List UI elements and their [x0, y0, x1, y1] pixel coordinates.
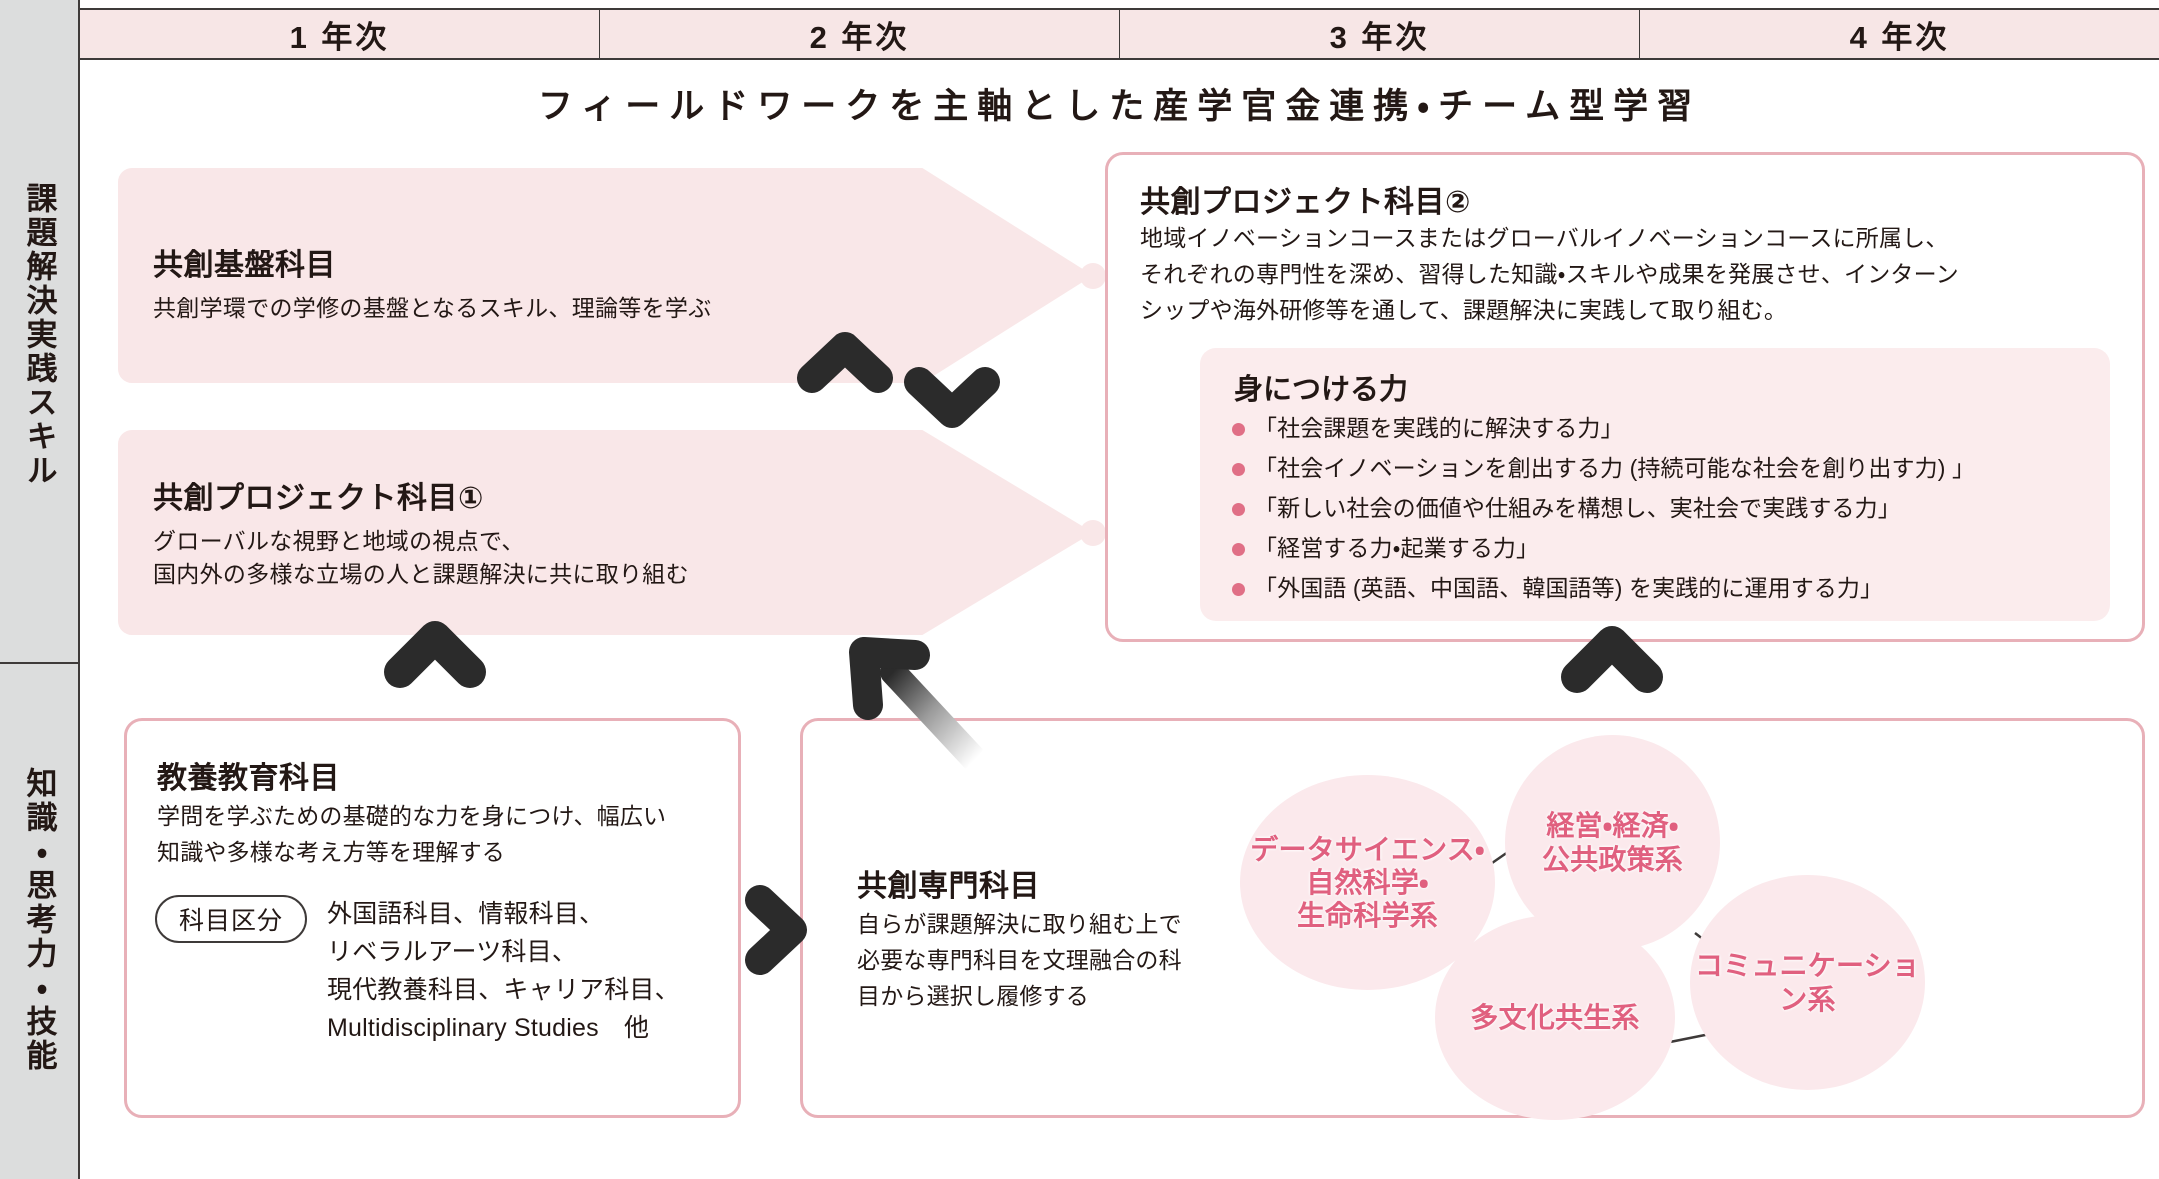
- arrow-diagonal-up-left: [864, 652, 975, 760]
- arrow-down-center: [919, 360, 985, 413]
- curriculum-diagram: 課題解決実践スキル 知識・思考力・技能 1 年次 2 年次 3 年次 4 年次 …: [0, 0, 2159, 1179]
- arrow-up-right: [1577, 642, 1647, 725]
- arrow-right: [715, 900, 792, 960]
- arrow-up-left: [400, 637, 470, 725]
- flow-arrows: [0, 0, 2159, 1179]
- arrow-up-center: [812, 347, 878, 415]
